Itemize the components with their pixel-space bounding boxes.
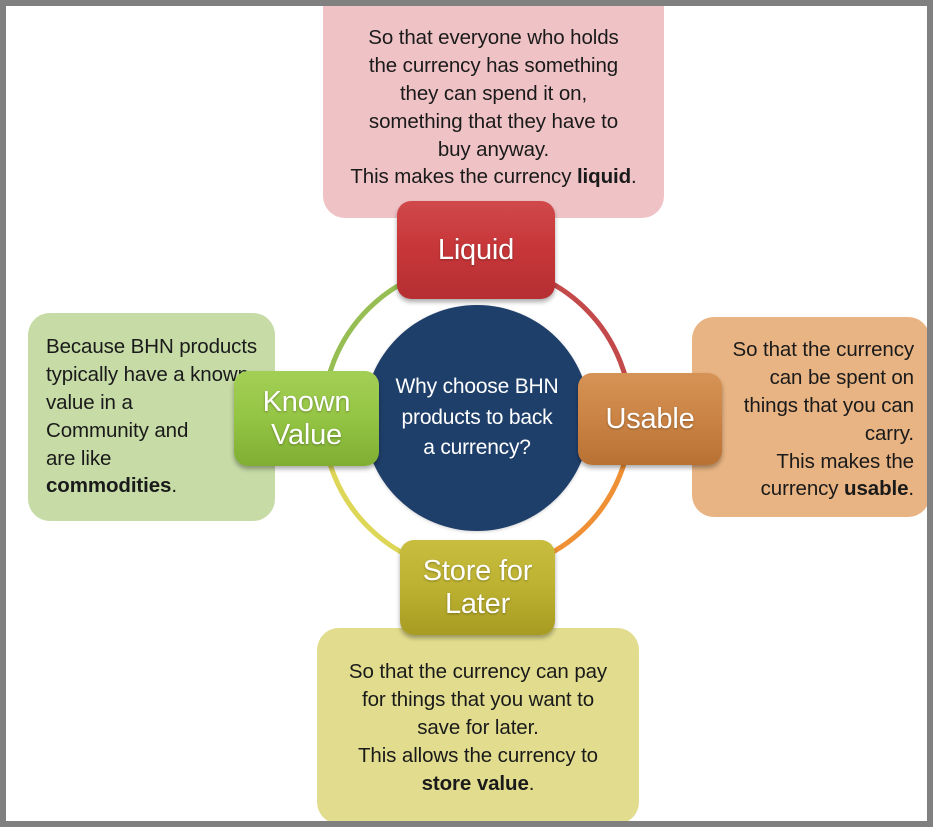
node-label-known-value: KnownValue — [263, 386, 351, 451]
description-card-usable: So that the currencycan be spent onthing… — [692, 317, 930, 517]
center-hub-circle[interactable]: Why choose BHNproducts to backa currency… — [364, 305, 590, 531]
node-button-store-for-later[interactable]: Store forLater — [400, 540, 555, 635]
description-card-store-for-later: So that the currency can payfor things t… — [317, 628, 639, 824]
node-button-usable[interactable]: Usable — [578, 373, 722, 465]
node-button-known-value[interactable]: KnownValue — [234, 371, 379, 466]
node-label-liquid: Liquid — [438, 234, 514, 266]
node-label-usable: Usable — [605, 403, 694, 435]
center-hub-question: Why choose BHNproducts to backa currency… — [396, 372, 559, 463]
node-button-liquid[interactable]: Liquid — [397, 201, 555, 299]
diagram-canvas: So that everyone who holdsthe currency h… — [0, 0, 933, 827]
description-card-liquid: So that everyone who holdsthe currency h… — [323, 6, 664, 218]
node-label-store-for-later: Store forLater — [423, 555, 532, 620]
